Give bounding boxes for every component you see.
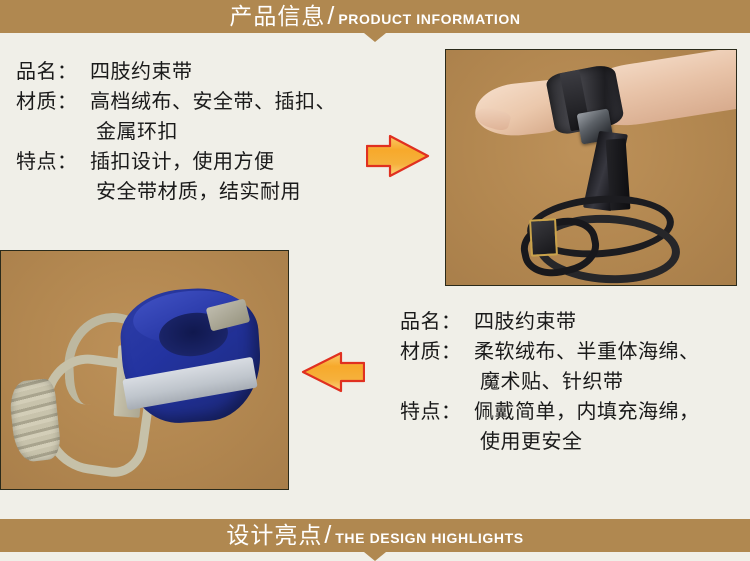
bottom-spec-colon-2: ： bbox=[441, 401, 462, 423]
product-photo-arm-restraint bbox=[445, 49, 737, 286]
bottom-spec-row-product-name: 品名： 四肢约束带 bbox=[400, 307, 700, 337]
arrow-left-icon bbox=[301, 350, 365, 394]
top-spec-label-text-2: 特点 bbox=[16, 151, 57, 173]
top-spec-label-product-name: 品名： bbox=[16, 57, 90, 87]
footer-title-cn: 设计亮点 bbox=[226, 524, 322, 547]
top-spec-row-features: 特点： 插扣设计，使用方便 bbox=[16, 147, 336, 177]
top-spec-label-text-1: 材质 bbox=[16, 91, 57, 113]
bottom-spec-value-product-name: 四肢约束带 bbox=[474, 307, 577, 337]
top-spec-label-material: 材质： bbox=[16, 87, 90, 117]
photo-arm-background bbox=[446, 50, 736, 285]
header-title-en: PRODUCT INFORMATION bbox=[338, 12, 520, 26]
bottom-spec-row-features: 特点： 佩戴简单，内填充海绵， bbox=[400, 397, 700, 427]
footer-title-en: THE DESIGN HIGHLIGHTS bbox=[335, 531, 523, 545]
top-spec-material-continuation: 金属环扣 bbox=[96, 117, 336, 147]
header-banner: 产品信息 / PRODUCT INFORMATION bbox=[0, 0, 750, 33]
top-spec-features-continuation: 安全带材质，结实耐用 bbox=[96, 177, 336, 207]
bottom-spec-colon-1: ： bbox=[441, 341, 462, 363]
photo-collar-background bbox=[1, 251, 288, 489]
top-spec-row-product-name: 品名： 四肢约束带 bbox=[16, 57, 336, 87]
bottom-spec-label-text-0: 品名 bbox=[400, 311, 441, 333]
photo-collar-strap-bundle bbox=[8, 377, 62, 462]
footer-banner-text: 设计亮点 / THE DESIGN HIGHLIGHTS bbox=[226, 523, 523, 548]
bottom-spec-label-features: 特点： bbox=[400, 397, 474, 427]
header-title-cn: 产品信息 bbox=[229, 5, 325, 28]
top-spec-value-product-name: 四肢约束带 bbox=[90, 57, 193, 87]
top-spec-colon-1: ： bbox=[57, 91, 78, 113]
top-spec-label-text-0: 品名 bbox=[16, 61, 57, 83]
bottom-spec-row-material: 材质： 柔软绒布、半重体海绵、 bbox=[400, 337, 700, 367]
top-spec-value-material: 高档绒布、安全带、插扣、 bbox=[90, 87, 336, 117]
top-spec-label-features: 特点： bbox=[16, 147, 90, 177]
bottom-spec-label-text-2: 特点 bbox=[400, 401, 441, 423]
top-spec-colon-2: ： bbox=[57, 151, 78, 173]
bottom-spec-features-continuation: 使用更安全 bbox=[480, 427, 700, 457]
bottom-spec-material-continuation: 魔术贴、针织带 bbox=[480, 367, 700, 397]
bottom-spec-label-text-1: 材质 bbox=[400, 341, 441, 363]
footer-banner: 设计亮点 / THE DESIGN HIGHLIGHTS bbox=[0, 519, 750, 552]
arrow-right-icon bbox=[366, 133, 430, 179]
bottom-spec-label-product-name: 品名： bbox=[400, 307, 474, 337]
top-spec-row-material: 材质： 高档绒布、安全带、插扣、 bbox=[16, 87, 336, 117]
top-spec-value-features: 插扣设计，使用方便 bbox=[90, 147, 275, 177]
top-spec-list: 品名： 四肢约束带 材质： 高档绒布、安全带、插扣、 金属环扣 特点： 插扣设计… bbox=[16, 57, 336, 207]
bottom-spec-value-features: 佩戴简单，内填充海绵， bbox=[474, 397, 700, 427]
top-spec-colon-0: ： bbox=[57, 61, 78, 83]
header-banner-notch-icon bbox=[364, 33, 386, 42]
header-banner-text: 产品信息 / PRODUCT INFORMATION bbox=[229, 4, 520, 29]
footer-title-separator: / bbox=[324, 523, 331, 548]
bottom-spec-label-material: 材质： bbox=[400, 337, 474, 367]
bottom-spec-value-material: 柔软绒布、半重体海绵、 bbox=[474, 337, 700, 367]
header-title-separator: / bbox=[327, 4, 334, 29]
product-photo-padded-cuff bbox=[0, 250, 289, 490]
bottom-spec-list: 品名： 四肢约束带 材质： 柔软绒布、半重体海绵、 魔术贴、针织带 特点： 佩戴… bbox=[400, 307, 700, 457]
bottom-spec-colon-0: ： bbox=[441, 311, 462, 333]
photo-arm-metal-ring bbox=[529, 219, 558, 257]
